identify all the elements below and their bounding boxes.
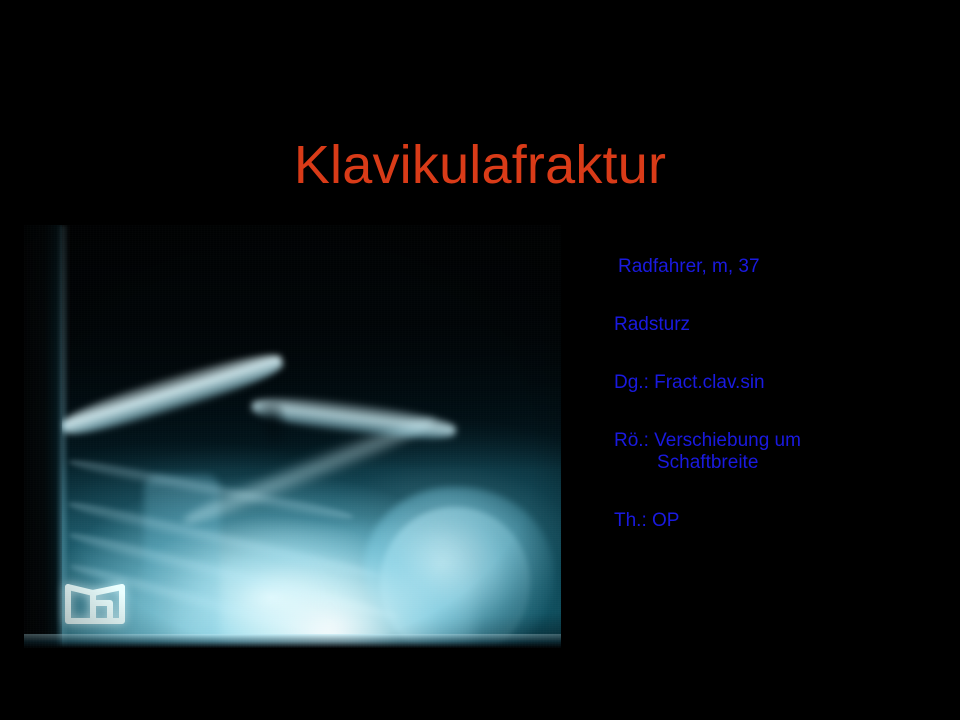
note-radiology-line1: Rö.: Verschiebung um [614,430,801,451]
xray-rib [66,495,382,585]
xray-vignette [24,225,561,648]
xray-collimation-band [24,225,62,648]
xray-scapula [364,487,554,648]
xray-humeral-head [380,507,530,648]
xray-collimation-edge [58,225,68,648]
xray-image [24,225,561,648]
note-therapy: Th.: OP [614,510,944,532]
note-patient: Radfahrer, m, 37 [614,256,944,278]
xray-film-grain [24,225,561,648]
page-title: Klavikulafraktur [0,138,960,192]
xray-clavicle-lateral-fragment [250,391,457,446]
xray-rib [67,453,355,525]
xray-film-bottom-edge [24,634,561,648]
xray-bright-flare [174,525,474,648]
note-diagnosis: Dg.: Fract.clav.sin [614,372,944,394]
clinical-notes: Radfahrer, m, 37 Radsturz Dg.: Fract.cla… [614,256,944,532]
xray-clavicle-medial-fragment [57,344,287,444]
xray-rib [67,526,401,626]
xray-soft-tissue-streak [179,407,440,534]
presentation-slide: Klavikulafraktur [0,0,960,720]
note-mechanism: Radsturz [614,314,944,336]
radiopaque-marker-icon [62,577,128,627]
note-radiology: Rö.: Verschiebung um Schaftbreite [614,430,944,474]
xray-lung-field [24,225,561,470]
xray-film-base [24,225,561,648]
xray-spine-shadow [144,475,220,648]
note-radiology-line2: Schaftbreite [614,452,944,474]
xray-fracture-gap [256,399,291,447]
xray-rib [68,558,410,648]
